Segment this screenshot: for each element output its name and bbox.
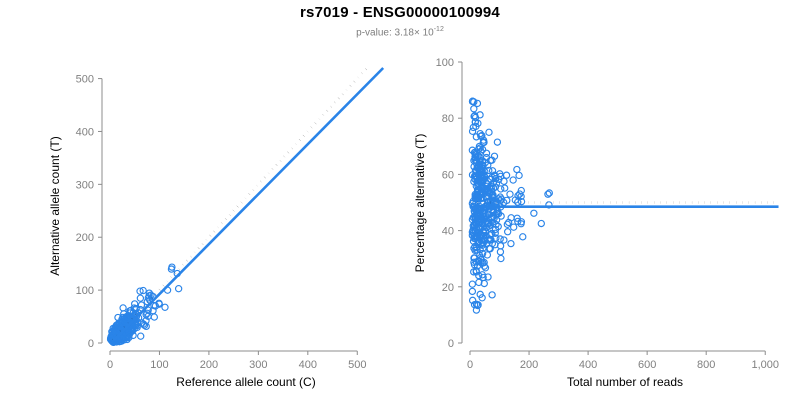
data-point	[545, 191, 551, 197]
x-tick-label: 0	[107, 359, 113, 371]
figure-container: rs7019 - ENSG00000100994 p-value: 3.18× …	[0, 0, 800, 400]
data-point	[520, 234, 526, 240]
data-point	[120, 305, 126, 311]
x-tick-label: 300	[249, 359, 267, 371]
data-point	[486, 129, 492, 135]
data-point	[469, 128, 475, 134]
data-point	[507, 191, 513, 197]
points-allele-counts-panel	[108, 264, 182, 345]
data-point	[162, 304, 168, 310]
data-point	[489, 292, 495, 298]
right-x-axis-title: Total number of reads	[475, 375, 775, 389]
y-tick-label: 400	[76, 126, 94, 138]
y-tick-label: 0	[88, 338, 94, 350]
data-point	[514, 166, 520, 172]
y-tick-label: 60	[442, 169, 454, 181]
data-point	[469, 281, 475, 287]
data-point	[508, 241, 514, 247]
x-tick-label: 600	[638, 359, 656, 371]
x-tick-label: 100	[150, 359, 168, 371]
data-point	[176, 286, 182, 292]
x-tick-label: 400	[299, 359, 317, 371]
data-point	[503, 172, 509, 178]
data-point	[137, 295, 143, 301]
y-tick-label: 20	[442, 282, 454, 294]
data-point	[494, 139, 500, 145]
y-tick-label: 200	[76, 232, 94, 244]
data-point	[497, 249, 503, 255]
data-point	[471, 106, 477, 112]
data-point	[498, 186, 504, 192]
x-tick-label: 0	[467, 359, 473, 371]
data-point	[538, 220, 544, 226]
identity-reference-line	[113, 68, 367, 340]
y-tick-label: 0	[448, 338, 454, 350]
left-y-axis-title: Alternative allele count (T)	[48, 56, 62, 356]
data-point	[516, 172, 522, 178]
y-tick-label: 500	[76, 74, 94, 86]
data-point	[510, 177, 516, 183]
data-point	[497, 236, 503, 242]
x-tick-label: 800	[697, 359, 715, 371]
data-point	[498, 255, 504, 261]
y-tick-label: 100	[436, 57, 454, 69]
y-tick-label: 300	[76, 179, 94, 191]
y-tick-label: 100	[76, 285, 94, 297]
y-tick-label: 40	[442, 226, 454, 238]
x-tick-label: 400	[579, 359, 597, 371]
data-point	[505, 229, 511, 235]
left-x-axis-title: Reference allele count (C)	[96, 375, 396, 389]
data-point	[511, 224, 517, 230]
data-point	[138, 333, 144, 339]
regression-fit-line	[113, 68, 383, 341]
y-tick-label: 80	[442, 113, 454, 125]
data-point	[469, 288, 475, 294]
x-tick-label: 200	[200, 359, 218, 371]
plot-canvas: 0100200300400500010020030040050002040608…	[0, 0, 800, 400]
data-point	[531, 210, 537, 216]
x-tick-label: 1,000	[751, 359, 779, 371]
data-point	[151, 314, 157, 320]
x-tick-label: 500	[348, 359, 366, 371]
x-tick-label: 200	[520, 359, 538, 371]
right-y-axis-title: Percentage alternative (T)	[413, 53, 427, 353]
